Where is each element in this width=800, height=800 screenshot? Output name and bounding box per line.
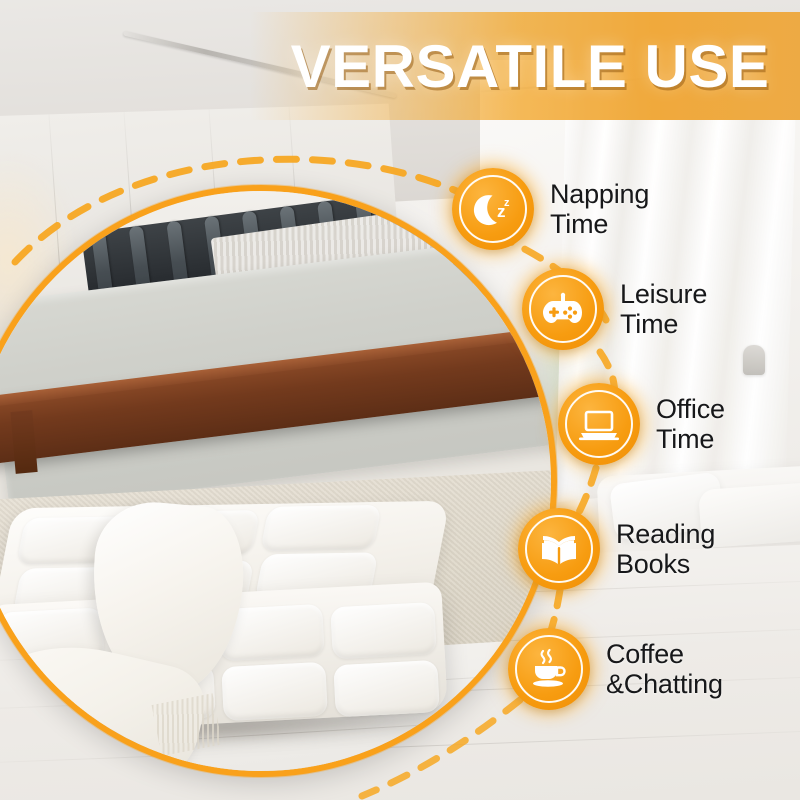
feature-item-reading[interactable]: Reading Books [518,508,715,590]
title-banner: VERSATILE USE [250,12,800,120]
curtain-tieback [743,345,765,375]
feature-item-office[interactable]: Office Time [558,383,725,465]
feature-item-napping[interactable]: z z Napping Time [452,168,649,250]
gamepad-icon[interactable] [522,268,604,350]
storage-ottoman-bench [0,493,471,758]
open-book-icon[interactable] [518,508,600,590]
feature-item-leisure[interactable]: Leisure Time [522,268,707,350]
feature-label-leisure: Leisure Time [620,279,707,339]
product-photo-circle [0,185,557,777]
coffee-cup-icon[interactable] [508,628,590,710]
feature-label-reading: Reading Books [616,519,715,579]
feature-label-office: Office Time [656,394,725,454]
page-title: VERSATILE USE [250,12,800,120]
moon-zzz-icon[interactable]: z z [452,168,534,250]
feature-item-coffee[interactable]: Coffee &Chatting [508,628,723,710]
svg-text:z: z [504,197,510,209]
feature-label-napping: Napping Time [550,179,649,239]
feature-label-coffee: Coffee &Chatting [606,639,723,699]
infographic-canvas: VERSATILE USE z z Napping Time [0,0,800,800]
laptop-icon[interactable] [558,383,640,465]
